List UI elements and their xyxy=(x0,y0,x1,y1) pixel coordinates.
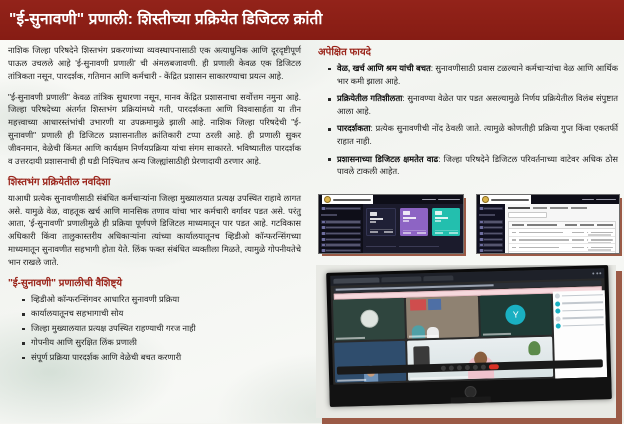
caselist-topbar xyxy=(477,195,619,204)
sidebar-item-2[interactable] xyxy=(321,226,361,229)
participant-initial-avatar: Y xyxy=(505,305,526,326)
avatar xyxy=(555,301,560,306)
participant-tile-office[interactable] xyxy=(406,296,478,338)
browser-tab[interactable] xyxy=(423,275,453,281)
participant-row[interactable] xyxy=(555,307,603,313)
join-hearing-button[interactable] xyxy=(587,247,613,249)
table-row[interactable] xyxy=(509,244,615,252)
caselist-sidebar[interactable] xyxy=(477,204,505,254)
stat-card-group xyxy=(366,208,460,236)
participant-row[interactable] xyxy=(556,322,604,328)
table-row[interactable] xyxy=(509,229,615,237)
table-row[interactable] xyxy=(509,252,615,254)
sidebar-item-6[interactable] xyxy=(321,249,361,252)
sidebar-item-5[interactable] xyxy=(479,243,503,246)
calendar-icon xyxy=(480,238,483,241)
avatar xyxy=(555,308,560,313)
computer-monitor: Y xyxy=(326,265,612,407)
benefit-text: : प्रत्येक सुनावणीची नोंद ठेवली जाते. त्… xyxy=(337,123,618,146)
list-item: प्रक्रियेतील गतिशीलता: सुनावण्या वेळेत प… xyxy=(328,92,618,117)
features-list: व्हिडीओ कॉन्फरन्सिंगवर आधारित सुनावणी प्… xyxy=(8,293,301,363)
end-call-button[interactable] xyxy=(489,364,499,369)
benefit-lead: पारदर्शकता xyxy=(337,123,371,133)
list-item: संपूर्ण प्रक्रिया पारदर्शक आणि वेळेची बच… xyxy=(22,351,301,363)
benefit-lead: वेळ, खर्च आणि श्रम यांची बचत xyxy=(337,63,431,73)
section-heading-navdisha: शिस्तभंग प्रक्रियेतील नवदिशा xyxy=(8,176,301,189)
participant-tile-speaker[interactable] xyxy=(407,336,553,381)
sidebar-item-dashboard[interactable] xyxy=(321,207,361,210)
list-icon xyxy=(480,221,483,224)
users-icon xyxy=(322,232,325,235)
gear-icon xyxy=(480,249,483,252)
section-heading-benefits: अपेक्षित फायदे xyxy=(318,46,618,59)
file-icon xyxy=(322,226,325,229)
sidebar-item-4[interactable] xyxy=(321,238,361,241)
benefits-list: वेळ, खर्च आणि श्रम यांची बचत: सुनावणीसाठ… xyxy=(318,62,618,178)
browser-menu-icon[interactable] xyxy=(592,272,601,274)
join-hearing-button[interactable] xyxy=(587,232,613,234)
zp-seal-icon xyxy=(360,310,378,328)
intro-paragraph-1: नाशिक जिल्हा परिषदेने शिस्तभंग प्रकरणांच… xyxy=(8,44,301,83)
users-icon xyxy=(480,232,483,235)
cases-table xyxy=(508,221,616,254)
app-brand xyxy=(480,195,531,204)
stat-card-total[interactable] xyxy=(366,208,396,236)
microphone-icon[interactable] xyxy=(441,365,446,370)
list-item: व्हिडीओ कॉन्फरन्सिंगवर आधारित सुनावणी प्… xyxy=(22,293,301,305)
page-title: "ई-सुनावणी" प्रणाली: शिस्तीच्या प्रक्रिय… xyxy=(0,12,322,28)
page-header-bar: "ई-सुनावणी" प्रणाली: शिस्तीच्या प्रक्रिय… xyxy=(0,0,624,40)
zp-logo-icon xyxy=(324,196,331,203)
browser-tab[interactable] xyxy=(333,277,379,283)
list-item: गोपनीय आणि सुरक्षित लिंक प्रणाली xyxy=(22,336,301,348)
sidebar-item-3[interactable] xyxy=(321,232,361,235)
screenshot-dashboard xyxy=(318,194,462,252)
sidebar-item-1[interactable] xyxy=(479,220,503,223)
app-brand xyxy=(322,195,373,204)
calendar-icon xyxy=(322,238,325,241)
report-icon xyxy=(480,244,483,247)
monitor-stand xyxy=(451,396,491,405)
card-icon xyxy=(403,211,410,215)
home-icon xyxy=(480,207,483,210)
list-icon xyxy=(322,221,325,224)
poster-page: "ई-सुनावणी" प्रणाली: शिस्तीच्या प्रक्रिय… xyxy=(0,0,624,423)
card-icon xyxy=(435,211,442,215)
topbar-actions[interactable] xyxy=(422,199,460,201)
raise-hand-icon[interactable] xyxy=(465,364,470,369)
left-column: नाशिक जिल्हा परिषदेने शिस्तभंग प्रकरणांच… xyxy=(0,44,308,365)
participant-row[interactable] xyxy=(555,292,603,298)
dashboard-topbar xyxy=(319,195,463,204)
list-item: प्रशासनाच्या डिजिटल क्षमतेत वाढ: जिल्हा … xyxy=(328,153,618,178)
table-header-row xyxy=(509,222,615,229)
sidebar-item-1[interactable] xyxy=(321,220,361,223)
list-item: पारदर्शकता: प्रत्येक सुनावणीची नोंद ठेवल… xyxy=(328,122,618,147)
video-conference-photo: Y xyxy=(316,265,616,418)
home-icon xyxy=(322,207,325,210)
participant-row[interactable] xyxy=(555,315,603,321)
present-screen-icon[interactable] xyxy=(473,364,478,369)
camera-icon[interactable] xyxy=(449,365,454,370)
table-row[interactable] xyxy=(509,237,615,245)
zp-logo-icon xyxy=(482,196,489,203)
section-navdisha-paragraph: याआधी प्रत्येक सुनावणीसाठी संबंधित कर्मच… xyxy=(8,192,301,269)
topbar-actions[interactable] xyxy=(582,199,616,201)
more-options-icon[interactable] xyxy=(481,364,486,369)
report-icon xyxy=(322,244,325,247)
avatar xyxy=(556,323,561,328)
stat-card-pending[interactable] xyxy=(400,208,428,236)
chart-icon xyxy=(322,249,325,252)
sidebar-item-dashboard[interactable] xyxy=(479,207,503,210)
join-hearing-button[interactable] xyxy=(587,239,613,241)
sidebar-item-4[interactable] xyxy=(479,238,503,241)
caselist-app-window xyxy=(477,195,619,253)
sidebar-item-6[interactable] xyxy=(479,249,503,252)
list-item: जिल्हा मुख्यालयात प्रत्यक्ष उपस्थित राहण… xyxy=(22,322,301,334)
dashboard-main xyxy=(363,204,463,254)
section-heading-features: "ई-सुनावणी" प्रणालीची वैशिष्ट्ये xyxy=(8,277,301,290)
sidebar-item-3[interactable] xyxy=(479,232,503,235)
caselist-main xyxy=(505,204,619,254)
participant-row[interactable] xyxy=(555,300,603,306)
dashboard-app-window xyxy=(319,195,463,253)
dashboard-footer xyxy=(366,246,460,247)
list-item: कार्यालयातूनच सहभागाची सोय xyxy=(22,307,301,319)
participant-tile-logo[interactable] xyxy=(333,298,405,340)
breadcrumb[interactable] xyxy=(508,207,616,209)
captions-icon[interactable] xyxy=(457,365,462,370)
avatar xyxy=(555,293,560,298)
monitor-screen: Y xyxy=(330,268,607,385)
list-item: वेळ, खर्च आणि श्रम यांची बचत: सुनावणीसाठ… xyxy=(328,62,618,87)
participant-tile-initial[interactable]: Y xyxy=(480,294,552,336)
browser-tab[interactable] xyxy=(381,276,421,282)
card-icon xyxy=(370,212,377,216)
stat-card-closed[interactable] xyxy=(432,208,460,236)
intro-paragraph-2: "ई-सुनावणी प्रणाली" केवळ तांत्रिक सुधारण… xyxy=(8,91,301,168)
file-icon xyxy=(480,226,483,229)
sidebar-item-2[interactable] xyxy=(479,226,503,229)
right-column: अपेक्षित फायदे वेळ, खर्च आणि श्रम यांची … xyxy=(312,44,624,183)
dashboard-sidebar[interactable] xyxy=(319,204,363,254)
benefit-lead: प्रक्रियेतील गतिशीलता xyxy=(337,93,402,103)
benefit-lead: प्रशासनाच्या डिजिटल क्षमतेत वाढ xyxy=(337,154,438,164)
participant-tile-girl[interactable] xyxy=(334,340,406,382)
avatar xyxy=(555,316,560,321)
search-input[interactable] xyxy=(508,212,547,219)
screenshot-case-list xyxy=(476,194,618,252)
sidebar-item-5[interactable] xyxy=(321,243,361,246)
